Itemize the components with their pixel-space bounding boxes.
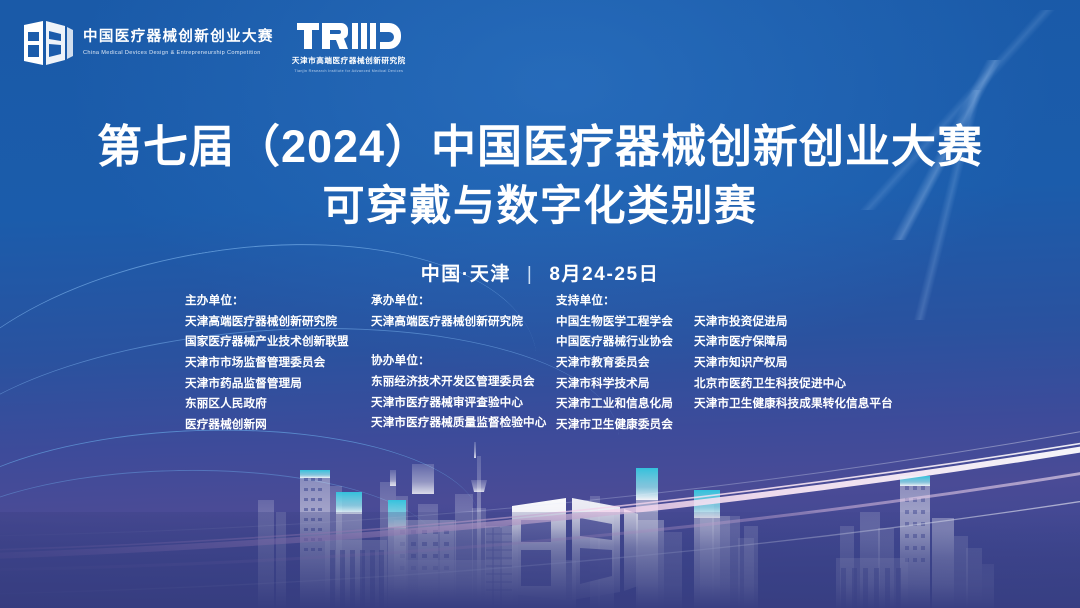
- host-heading: 主办单位：: [185, 291, 371, 312]
- venue-date: 8月24-25日: [549, 264, 659, 285]
- organizer-heading: 承办单位：: [371, 291, 556, 312]
- supporter-item: 天津市科学技术局: [556, 374, 687, 395]
- competition-logo-cn: 中国医疗器械创新创业大赛: [83, 29, 274, 46]
- organizer-item: 天津高端医疗器械创新研究院: [371, 312, 556, 333]
- supporter-item: 中国生物医学工程学会: [556, 312, 687, 333]
- supporter-item: 天津市卫生健康委员会: [556, 415, 687, 436]
- supporter-item: 中国医疗器械行业协会: [556, 332, 687, 353]
- supporter-column-a: 支持单位： 中国生物医学工程学会 中国医疗器械行业协会 天津市教育委员会 天津市…: [556, 291, 687, 435]
- column-spacer: [371, 332, 556, 351]
- supporter-item: 天津市投资促进局: [694, 312, 904, 333]
- coorganizer-item: 东丽经济技术开发区管理委员会: [371, 372, 556, 393]
- poster-canvas: 中国医疗器械创新创业大赛 China Medical Devices Desig…: [0, 0, 1080, 608]
- triid-wordmark-icon: [297, 21, 401, 51]
- host-item: 医疗器械创新网: [185, 415, 371, 436]
- competition-logo-text: 中国医疗器械创新创业大赛 China Medical Devices Desig…: [83, 29, 274, 57]
- page-title: 第七届（2024）中国医疗器械创新创业大赛: [0, 120, 1080, 173]
- supporter-columns: 支持单位： 中国生物医学工程学会 中国医疗器械行业协会 天津市教育委员会 天津市…: [556, 291, 904, 435]
- coorganizer-item: 天津市医疗器械质量监督检验中心: [371, 413, 556, 434]
- institute-logo: 天津市高端医疗器械创新研究院 Tianjin Research Institut…: [292, 21, 406, 73]
- host-item: 天津市市场监督管理委员会: [185, 353, 371, 374]
- institute-logo-cn: 天津市高端医疗器械创新研究院: [292, 55, 406, 66]
- city-skyline-silhouette: [0, 408, 1080, 608]
- host-item: 东丽区人民政府: [185, 394, 371, 415]
- page-subtitle: 可穿戴与数字化类别赛: [0, 181, 1080, 231]
- supporter-item: 北京市医药卫生科技促进中心: [694, 374, 904, 395]
- supporter-item: 天津市知识产权局: [694, 353, 904, 374]
- supporter-item: 天津市工业和信息化局: [556, 394, 687, 415]
- competition-logo-en: China Medical Devices Design & Entrepren…: [83, 50, 274, 57]
- logo-bar: 中国医疗器械创新创业大赛 China Medical Devices Desig…: [22, 20, 406, 73]
- organizer-column: 承办单位： 天津高端医疗器械创新研究院 协办单位： 东丽经济技术开发区管理委员会…: [371, 291, 556, 435]
- venue-line: 中国·天津 | 8月24-25日: [0, 259, 1080, 286]
- title-block: 第七届（2024）中国医疗器械创新创业大赛 可穿戴与数字化类别赛: [0, 120, 1080, 231]
- institute-logo-en: Tianjin Research Institute for Advanced …: [294, 69, 403, 73]
- host-item: 天津高端医疗器械创新研究院: [185, 312, 371, 333]
- organizer-columns: 主办单位： 天津高端医疗器械创新研究院 国家医疗器械产业技术创新联盟 天津市市场…: [185, 291, 915, 435]
- supporter-item: 天津市医疗保障局: [694, 332, 904, 353]
- supporter-column-b-spacer: [694, 291, 904, 312]
- door-portal-logo-icon: [22, 20, 74, 66]
- venue-separator: |: [527, 264, 534, 286]
- host-item: 国家医疗器械产业技术创新联盟: [185, 332, 371, 353]
- supporter-item: 天津市卫生健康科技成果转化信息平台: [694, 394, 904, 415]
- coorganizer-heading: 协办单位：: [371, 351, 556, 372]
- coorganizer-item: 天津市医疗器械审评查验中心: [371, 393, 556, 414]
- host-column: 主办单位： 天津高端医疗器械创新研究院 国家医疗器械产业技术创新联盟 天津市市场…: [185, 291, 371, 435]
- supporter-column-b: 天津市投资促进局 天津市医疗保障局 天津市知识产权局 北京市医药卫生科技促进中心…: [694, 291, 904, 435]
- supporter-item: 天津市教育委员会: [556, 353, 687, 374]
- host-item: 天津市药品监督管理局: [185, 374, 371, 395]
- competition-logo: 中国医疗器械创新创业大赛 China Medical Devices Desig…: [22, 20, 274, 66]
- supporter-heading: 支持单位：: [556, 291, 687, 312]
- venue-location: 中国·天津: [421, 264, 511, 285]
